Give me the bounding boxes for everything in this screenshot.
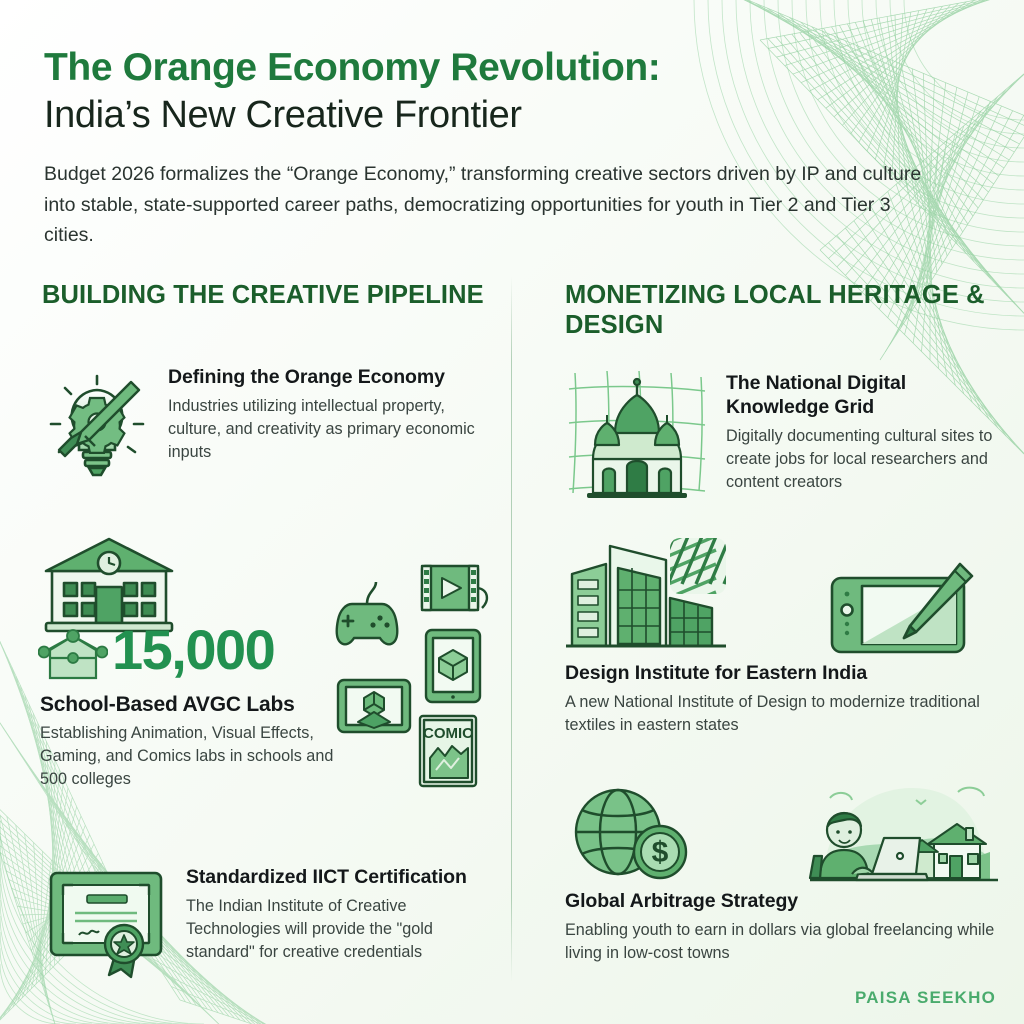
tablet-3d-cube-icon [426, 630, 480, 702]
item-defining-orange-economy: Defining the Orange Economy Industries u… [42, 366, 492, 481]
creative-media-icon-cluster: COMIC [318, 552, 494, 797]
item-title: The National Digital Knowledge Grid [726, 372, 1014, 420]
item-description: Digitally documenting cultural sites to … [726, 425, 1014, 494]
design-buildings-textile-icon [562, 534, 732, 661]
item-description: A new National Institute of Design to mo… [565, 691, 1017, 737]
comic-panel-icon: COMIC [420, 716, 476, 786]
item-title: Global Arbitrage Strategy [565, 890, 1017, 914]
globe-dollar-icon: $ [566, 784, 692, 889]
item-title: Design Institute for Eastern India [565, 662, 1017, 686]
dollar-sign-label: $ [652, 836, 669, 869]
freelancer-laptop-village-icon [808, 782, 998, 893]
item-description: The Indian Institute of Creative Technol… [186, 895, 494, 964]
item-description: Enabling youth to earn in dollars via gl… [565, 919, 1017, 965]
item-title: Defining the Orange Economy [168, 366, 492, 390]
item-title: Standardized IICT Certification [186, 866, 494, 890]
left-column: BUILDING THE CREATIVE PIPELINE [42, 280, 492, 310]
film-strip-play-icon [422, 566, 487, 610]
mosque-heritage-grid-icon [562, 366, 710, 502]
game-controller-icon [337, 582, 398, 644]
cube-tablet-icon [338, 680, 410, 732]
infographic-page: The Orange Economy Revolution: India’s N… [0, 0, 1024, 1024]
page-title-line-2: India’s New Creative Frontier [44, 94, 944, 138]
left-column-heading: BUILDING THE CREATIVE PIPELINE [42, 280, 492, 310]
drawing-tablet-stylus-icon [828, 560, 976, 663]
item-iict-certification: Standardized IICT Certification The Indi… [42, 862, 494, 980]
column-divider [511, 276, 512, 982]
brand-watermark: PAISA SEEKHO [855, 988, 996, 1008]
item-digital-knowledge-grid: The National Digital Knowledge Grid Digi… [562, 366, 1014, 502]
item-description: Industries utilizing intellectual proper… [168, 395, 492, 464]
right-column-heading: MONETIZING LOCAL HERITAGE & DESIGN [565, 280, 1013, 340]
network-school-icon [38, 628, 108, 695]
certificate-ribbon-icon [42, 862, 170, 980]
comic-label: COMIC [423, 725, 473, 742]
page-subtitle: Budget 2026 formalizes the “Orange Econo… [44, 159, 924, 250]
item-design-institute: Design Institute for Eastern India A new… [565, 662, 1017, 737]
stat-description: Establishing Animation, Visual Effects, … [40, 722, 350, 791]
right-column: MONETIZING LOCAL HERITAGE & DESIGN [565, 280, 1013, 340]
item-global-arbitrage: Global Arbitrage Strategy Enabling youth… [565, 890, 1017, 965]
lightbulb-gear-paintbrush-icon [42, 366, 152, 481]
page-title-line-1: The Orange Economy Revolution: [44, 46, 944, 90]
header: The Orange Economy Revolution: India’s N… [44, 46, 944, 250]
